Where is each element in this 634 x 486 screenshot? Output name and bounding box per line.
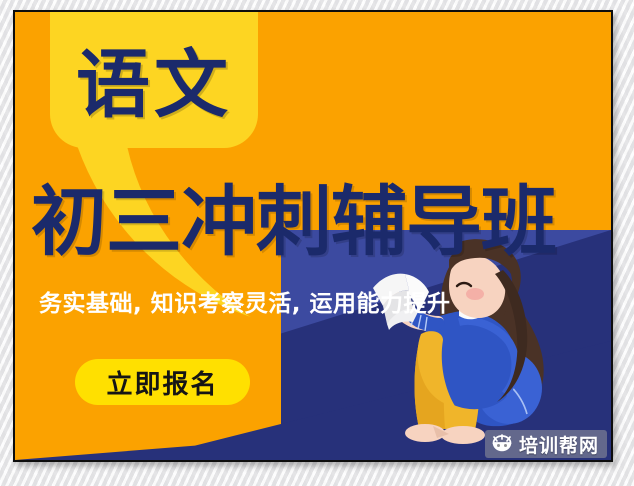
page-title: 初三冲刺辅导班 [31, 184, 556, 260]
face-bowl [493, 443, 510, 451]
watermark: 培训帮网 [485, 430, 607, 458]
cheek-blush [466, 288, 484, 300]
page-background: 语文 初三冲刺辅导班 务实基础, 知识考察灵活, 运用能力提升 立即报名 [0, 0, 634, 486]
sun-face-icon [491, 434, 513, 454]
page-subtitle: 务实基础, 知识考察灵活, 运用能力提升 [39, 293, 451, 316]
subject-badge: 语文 [50, 10, 258, 148]
signup-button-label: 立即报名 [106, 364, 218, 401]
foot-right [441, 426, 485, 444]
eye-left [497, 444, 500, 447]
watermark-text: 培训帮网 [519, 431, 599, 458]
course-promo-poster: 语文 初三冲刺辅导班 务实基础, 知识考察灵活, 运用能力提升 立即报名 [13, 10, 613, 462]
subject-label: 语文 [76, 48, 232, 122]
eye-right [504, 444, 507, 447]
signup-button[interactable]: 立即报名 [75, 359, 250, 405]
